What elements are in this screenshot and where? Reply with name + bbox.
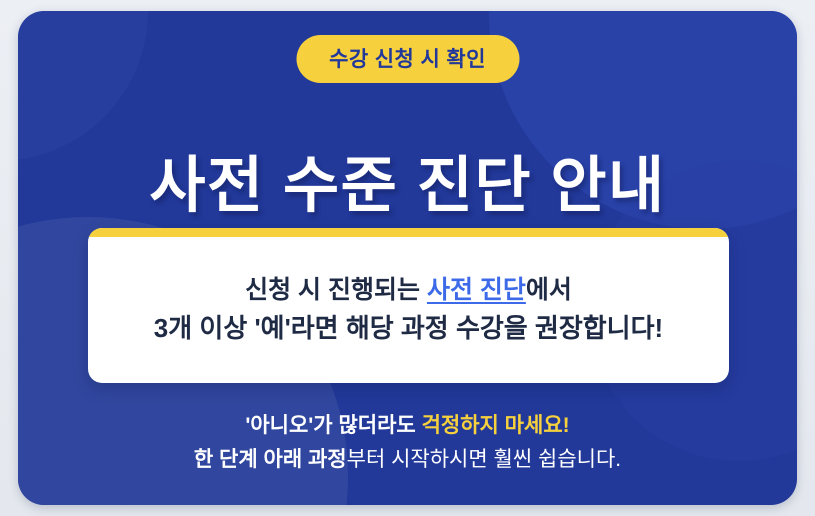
info-card: 신청 시 진행되는 사전 진단에서 3개 이상 '예'라면 해당 과정 수강을 … (88, 228, 729, 383)
card-line-1: 신청 시 진행되는 사전 진단에서 (245, 276, 572, 305)
card-line-2: 3개 이상 '예'라면 해당 과정 수강을 권장합니다! (154, 314, 663, 344)
footer-note-line-1: '아니오'가 많더라도 걱정하지 마세요! (18, 409, 797, 443)
footer-notes: '아니오'가 많더라도 걱정하지 마세요! 한 단계 아래 과정부터 시작하시면… (18, 409, 797, 477)
promo-panel: 수강 신청 시 확인 사전 수준 진단 안내 신청 시 진행되는 사전 진단에서… (18, 11, 797, 505)
card-top-accent-bar (88, 228, 729, 237)
eyebrow-badge-label: 수강 신청 시 확인 (329, 49, 486, 70)
footer-note-2-strong: 한 단계 아래 과정 (194, 448, 347, 471)
card-line-1-suffix: 에서 (526, 276, 572, 304)
eyebrow-badge: 수강 신청 시 확인 (296, 35, 519, 83)
page-title: 사전 수준 진단 안내 (18, 153, 797, 219)
footer-note-1-emphasis: 걱정하지 마세요! (422, 414, 570, 437)
pre-diagnosis-link[interactable]: 사전 진단 (427, 276, 526, 304)
footer-note-1-plain: '아니오'가 많더라도 (245, 414, 421, 437)
banner-root: 수강 신청 시 확인 사전 수준 진단 안내 신청 시 진행되는 사전 진단에서… (0, 0, 815, 516)
footer-note-line-2: 한 단계 아래 과정부터 시작하시면 훨씬 쉽습니다. (18, 443, 797, 477)
footer-note-2-rest: 부터 시작하시면 훨씬 쉽습니다. (347, 448, 622, 471)
panel-content: 수강 신청 시 확인 사전 수준 진단 안내 신청 시 진행되는 사전 진단에서… (18, 11, 797, 505)
card-line-1-prefix: 신청 시 진행되는 (245, 276, 427, 304)
card-body: 신청 시 진행되는 사전 진단에서 3개 이상 '예'라면 해당 과정 수강을 … (88, 237, 729, 383)
